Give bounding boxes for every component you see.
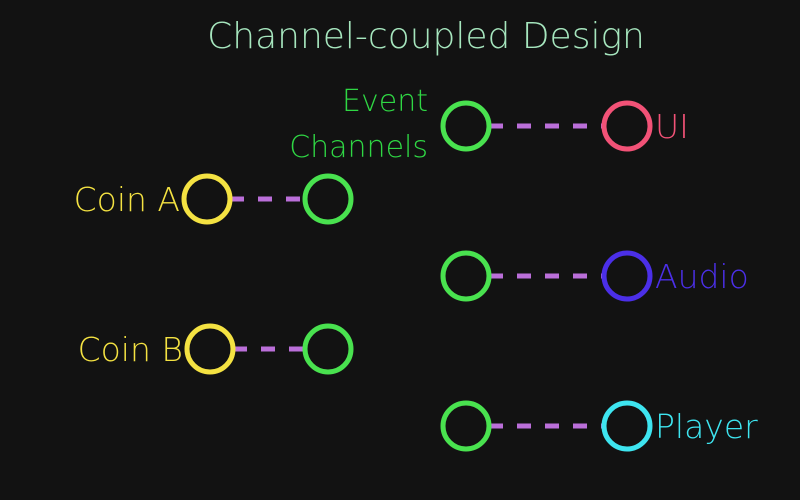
diagram-canvas: UICoin AAudioCoin BPlayer Channel-couple… [0, 0, 800, 500]
node-label-coin-b: Coin B [78, 330, 183, 369]
edges-layer [230, 126, 604, 426]
node-label-audio: Audio [655, 257, 749, 296]
event-channels-label-line-1: Event [342, 84, 428, 119]
node-channel-ui[interactable] [443, 103, 489, 149]
node-channel-coin-b[interactable] [305, 326, 351, 372]
node-channel-audio[interactable] [443, 253, 489, 299]
node-player[interactable] [604, 403, 650, 449]
node-channel-coin-a[interactable] [305, 176, 351, 222]
node-label-player: Player [655, 407, 758, 446]
diagram-svg: UICoin AAudioCoin BPlayer Channel-couple… [0, 0, 800, 500]
node-channel-player[interactable] [443, 403, 489, 449]
node-coin-b[interactable] [187, 326, 233, 372]
event-channels-label-line-2: Channels [289, 130, 428, 165]
node-audio[interactable] [604, 253, 650, 299]
node-label-coin-a: Coin A [74, 180, 180, 219]
node-label-ui: UI [655, 107, 689, 146]
page-title: Channel-coupled Design [207, 16, 645, 57]
node-coin-a[interactable] [184, 176, 230, 222]
node-ui[interactable] [604, 103, 650, 149]
